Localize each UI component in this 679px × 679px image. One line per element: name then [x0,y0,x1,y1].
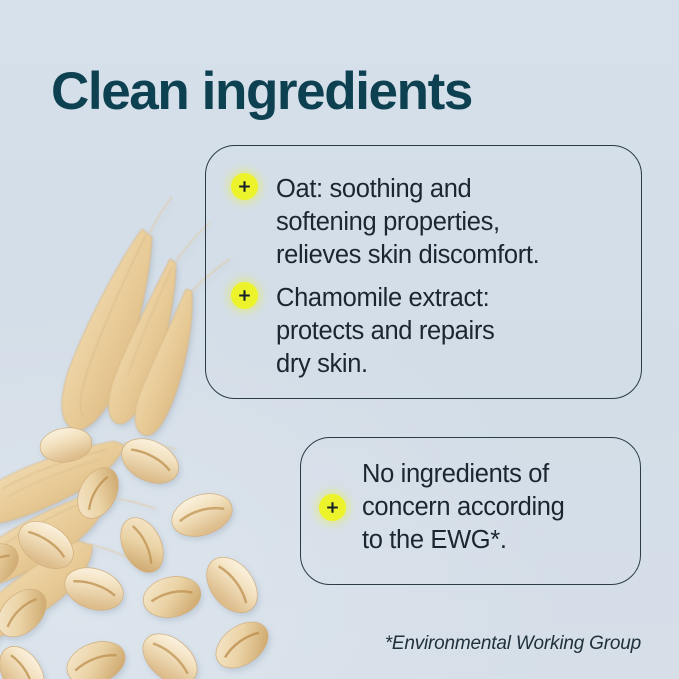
ingredients-card: Oat: soothing and softening properties, … [205,145,642,399]
ewg-card: No ingredients of concern according to t… [300,437,641,585]
list-item-chamomile: Chamomile extract: protects and repairs … [231,282,494,381]
list-item-label: Oat: soothing and softening properties, … [276,173,539,272]
list-item-oat: Oat: soothing and softening properties, … [231,173,539,272]
plus-icon [319,494,346,521]
list-item-label: No ingredients of concern according to t… [362,458,564,557]
plus-icon [231,173,258,200]
marketing-infographic: Clean ingredients Oat: soothing and soft… [0,0,679,679]
list-item-label: Chamomile extract: protects and repairs … [276,282,494,381]
page-title: Clean ingredients [51,64,472,120]
footnote: *Environmental Working Group [385,633,641,655]
list-item-ewg: No ingredients of concern according to t… [319,458,624,557]
plus-icon [231,282,258,309]
